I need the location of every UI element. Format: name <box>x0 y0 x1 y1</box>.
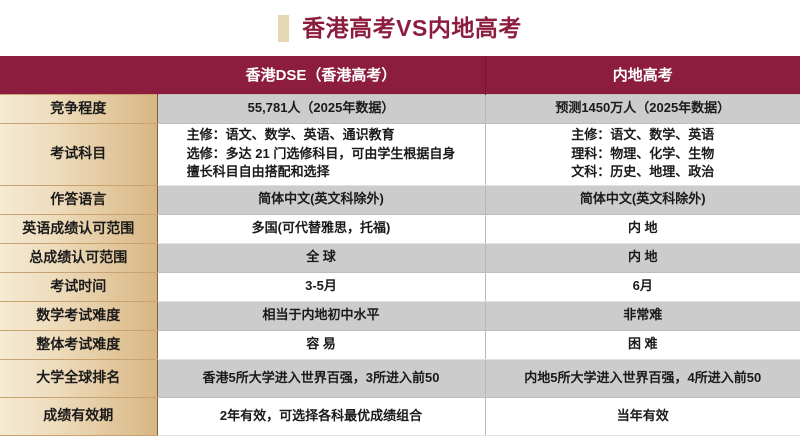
row-value-mainland: 困 难 <box>485 330 800 359</box>
table-header-row: 香港DSE（香港高考） 内地高考 <box>0 56 800 94</box>
row-value-mainland: 非常难 <box>485 301 800 330</box>
row-label: 考试时间 <box>0 272 157 301</box>
page-title: 香港高考VS内地高考 <box>0 0 800 56</box>
row-value-mainland: 6月 <box>485 272 800 301</box>
row-label: 作答语言 <box>0 185 157 214</box>
row-value-mainland-text: 主修：语文、数学、英语 理科：物理、化学、生物 文科：历史、地理、政治 <box>571 126 714 183</box>
row-value-hongkong-text: 主修：语文、数学、英语、通识教育 选修：多达 21 门选修科目，可由学生根据自身… <box>187 126 456 183</box>
table-row: 总成绩认可范围 全 球 内 地 <box>0 243 800 272</box>
table-header: 香港DSE（香港高考） 内地高考 <box>0 56 800 94</box>
row-label: 总成绩认可范围 <box>0 243 157 272</box>
header-cell-blank <box>0 56 157 94</box>
table-row: 作答语言 简体中文(英文科除外) 简体中文(英文科除外) <box>0 185 800 214</box>
row-value-mainland: 预测1450万人（2025年数据） <box>485 94 800 123</box>
table-row: 考试科目 主修：语文、数学、英语、通识教育 选修：多达 21 门选修科目，可由学… <box>0 123 800 185</box>
table-row: 英语成绩认可范围 多国(可代替雅思，托福) 内 地 <box>0 214 800 243</box>
header-cell-hongkong: 香港DSE（香港高考） <box>157 56 485 94</box>
row-value-hongkong: 相当于内地初中水平 <box>157 301 485 330</box>
row-value-mainland: 内 地 <box>485 214 800 243</box>
table-body: 竞争程度 55,781人（2025年数据） 预测1450万人（2025年数据） … <box>0 94 800 435</box>
row-value-mainland: 主修：语文、数学、英语 理科：物理、化学、生物 文科：历史、地理、政治 <box>485 123 800 185</box>
row-label: 整体考试难度 <box>0 330 157 359</box>
table-row: 考试时间 3-5月 6月 <box>0 272 800 301</box>
comparison-table: 香港DSE（香港高考） 内地高考 竞争程度 55,781人（2025年数据） 预… <box>0 56 800 436</box>
title-accent-bar <box>278 15 289 42</box>
row-value-hongkong: 主修：语文、数学、英语、通识教育 选修：多达 21 门选修科目，可由学生根据自身… <box>157 123 485 185</box>
row-value-hongkong: 3-5月 <box>157 272 485 301</box>
table-row: 整体考试难度 容 易 困 难 <box>0 330 800 359</box>
row-label: 大学全球排名 <box>0 359 157 397</box>
header-cell-mainland: 内地高考 <box>485 56 800 94</box>
table-row: 成绩有效期 2年有效，可选择各科最优成绩组合 当年有效 <box>0 397 800 435</box>
row-value-mainland: 简体中文(英文科除外) <box>485 185 800 214</box>
row-value-hongkong: 全 球 <box>157 243 485 272</box>
row-value-hongkong: 2年有效，可选择各科最优成绩组合 <box>157 397 485 435</box>
row-label: 成绩有效期 <box>0 397 157 435</box>
row-value-mainland: 内 地 <box>485 243 800 272</box>
comparison-infographic: 香港高考VS内地高考 香港DSE（香港高考） 内地高考 竞争程度 55,781人… <box>0 0 800 424</box>
row-label: 竞争程度 <box>0 94 157 123</box>
row-value-hongkong: 香港5所大学进入世界百强，3所进入前50 <box>157 359 485 397</box>
row-label: 数学考试难度 <box>0 301 157 330</box>
row-value-hongkong: 55,781人（2025年数据） <box>157 94 485 123</box>
title-text: 香港高考VS内地高考 <box>302 17 522 40</box>
table-row: 数学考试难度 相当于内地初中水平 非常难 <box>0 301 800 330</box>
row-value-hongkong: 容 易 <box>157 330 485 359</box>
row-value-hongkong: 多国(可代替雅思，托福) <box>157 214 485 243</box>
table-row: 竞争程度 55,781人（2025年数据） 预测1450万人（2025年数据） <box>0 94 800 123</box>
row-value-hongkong: 简体中文(英文科除外) <box>157 185 485 214</box>
row-label: 英语成绩认可范围 <box>0 214 157 243</box>
row-label: 考试科目 <box>0 123 157 185</box>
row-value-mainland: 内地5所大学进入世界百强，4所进入前50 <box>485 359 800 397</box>
row-value-mainland: 当年有效 <box>485 397 800 435</box>
table-row: 大学全球排名 香港5所大学进入世界百强，3所进入前50 内地5所大学进入世界百强… <box>0 359 800 397</box>
